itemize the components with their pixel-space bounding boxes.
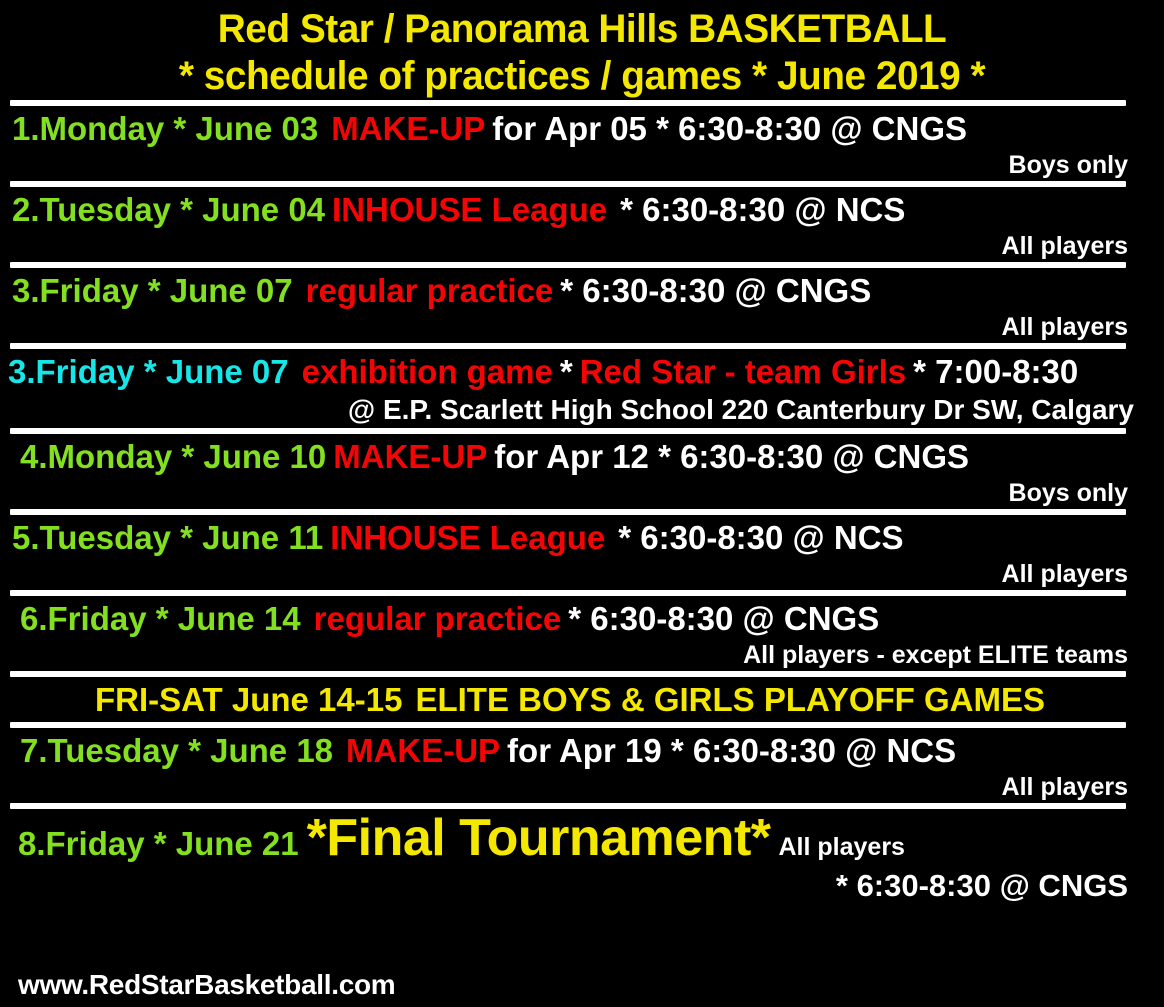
row-label: MAKE-UP [333,438,487,475]
row-detail: * 6:30-8:30 @ CNGS [560,272,871,309]
row-label: INHOUSE League [330,519,605,556]
website-footer[interactable]: www.RedStarBasketball.com [18,969,395,1001]
schedule-row-main: FRI-SAT June 14-15ELITE BOYS & GIRLS PLA… [0,678,1164,721]
row-note: Boys only [0,150,1164,180]
schedule-row: 3.Friday * June 07regular practice* 6:30… [0,268,1164,343]
schedule-row: 2.Tuesday * June 04INHOUSE League* 6:30-… [0,187,1164,262]
row-label: regular practice [306,272,554,309]
schedule-row-main: 1.Monday * June 03MAKE-UPfor Apr 05 * 6:… [0,107,1164,150]
schedule-row-main: 5.Tuesday * June 11INHOUSE League* 6:30-… [0,516,1164,559]
row-label: ELITE BOYS & GIRLS PLAYOFF GAMES [415,681,1045,718]
row-detail: * 7:00-8:30 [913,353,1078,390]
row-note: All players - except ELITE teams [0,640,1164,670]
schedule-row: 5.Tuesday * June 11INHOUSE League* 6:30-… [0,515,1164,590]
row-date: 2.Tuesday * June 04 [12,191,325,228]
row-subline: @ E.P. Scarlett High School 220 Canterbu… [0,393,1164,427]
schedule-row: 1.Monday * June 03MAKE-UPfor Apr 05 * 6:… [0,106,1164,181]
row-label: INHOUSE League [332,191,607,228]
row-date: 7.Tuesday * June 18 [20,732,333,769]
poster-title: Red Star / Panorama Hills BASKETBALL * s… [0,0,1164,100]
row-date: 1.Monday * June 03 [12,110,318,147]
schedule-row-final: 8.Friday * June 21 *Final Tournament* Al… [0,809,1164,907]
title-line-1: Red Star / Panorama Hills BASKETBALL [17,6,1146,53]
final-row-main: 8.Friday * June 21 *Final Tournament* Al… [0,810,1164,866]
final-tournament-headline: *Final Tournament* [307,810,771,866]
row-detail: for Apr 19 * 6:30-8:30 @ NCS [507,732,956,769]
row-date: 3.Friday * June 07 [12,272,293,309]
row-note: All players [0,312,1164,342]
row-detail: for Apr 12 * 6:30-8:30 @ CNGS [494,438,969,475]
schedule-row: 3.Friday * June 07exhibition game*Red St… [0,349,1164,428]
row-date: 6.Friday * June 14 [20,600,301,637]
row-detail: * 6:30-8:30 @ NCS [620,191,905,228]
row-date: 4.Monday * June 10 [20,438,326,475]
schedule-poster: Red Star / Panorama Hills BASKETBALL * s… [0,0,1164,1007]
row-label-secondary: Red Star - team Girls [580,353,906,390]
row-date: 8.Friday * June 21 [18,824,299,864]
row-note: Boys only [0,478,1164,508]
row-detail: * 6:30-8:30 @ NCS [618,519,903,556]
schedule-row-main: 7.Tuesday * June 18MAKE-UPfor Apr 19 * 6… [0,729,1164,772]
row-separator: * [560,353,573,390]
schedule-row: 7.Tuesday * June 18MAKE-UPfor Apr 19 * 6… [0,728,1164,803]
row-detail: * 6:30-8:30 @ CNGS [568,600,879,637]
row-note: All players [779,833,905,862]
schedule-row-main: 2.Tuesday * June 04INHOUSE League* 6:30-… [0,188,1164,231]
schedule-row-main: 6.Friday * June 14regular practice* 6:30… [0,597,1164,640]
row-note: All players [0,559,1164,589]
schedule-row-main: 3.Friday * June 07regular practice* 6:30… [0,269,1164,312]
row-label: MAKE-UP [331,110,485,147]
schedule-row-main: 3.Friday * June 07exhibition game*Red St… [0,350,1164,393]
row-note: All players [0,772,1164,802]
row-detail: for Apr 05 * 6:30-8:30 @ CNGS [492,110,967,147]
row-label: MAKE-UP [346,732,500,769]
row-label: exhibition game [302,353,553,390]
schedule-row: 4.Monday * June 10MAKE-UPfor Apr 12 * 6:… [0,434,1164,509]
final-tournament-time: * 6:30-8:30 @ CNGS [0,866,1164,906]
row-note: All players [0,231,1164,261]
row-date: 3.Friday * June 07 [8,353,289,390]
title-line-2: * schedule of practices / games * June 2… [17,53,1146,100]
row-label: regular practice [314,600,562,637]
row-date: FRI-SAT June 14-15 [95,681,402,718]
schedule-row: 6.Friday * June 14regular practice* 6:30… [0,596,1164,671]
row-date: 5.Tuesday * June 11 [12,519,323,556]
schedule-row-main: 4.Monday * June 10MAKE-UPfor Apr 12 * 6:… [0,435,1164,478]
schedule-row-elite: FRI-SAT June 14-15ELITE BOYS & GIRLS PLA… [0,677,1164,722]
